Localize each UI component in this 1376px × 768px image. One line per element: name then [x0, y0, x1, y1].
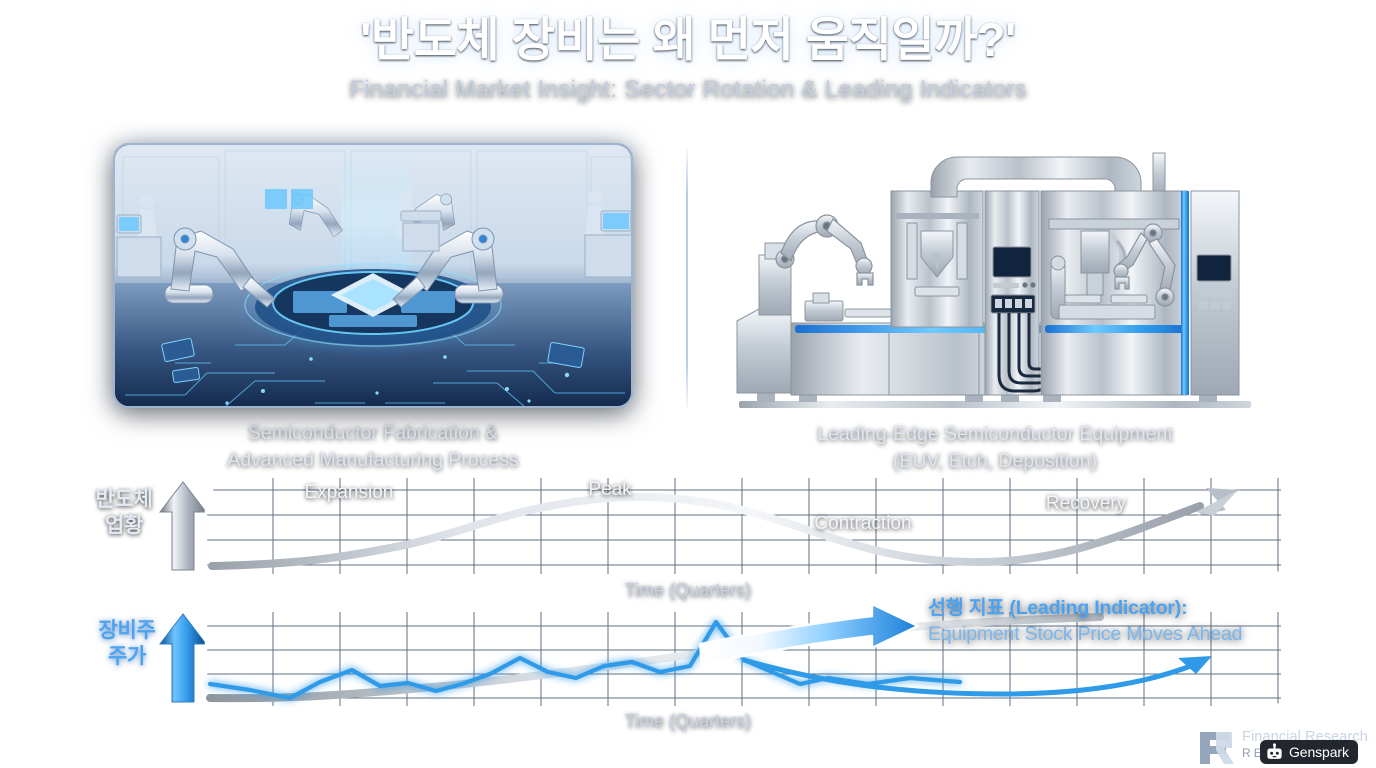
semiconductor-fab-photo	[113, 143, 633, 408]
caption-fab-line1: Semiconductor Fabrication &	[113, 420, 633, 447]
infographic-root: '반도체 장비는 왜 먼저 움직일까?' Financial Market In…	[0, 0, 1376, 768]
label-contraction: Contraction	[797, 513, 929, 535]
chart-bottom-recovery-curve	[744, 660, 1196, 694]
page-title: '반도체 장비는 왜 먼저 움직일까?'	[0, 14, 1376, 67]
vertical-divider	[686, 147, 688, 409]
leading-indicator-title: 선행 지표 (Leading Indicator):	[928, 596, 1348, 622]
equipment-illustration	[729, 143, 1261, 415]
page-subtitle: Financial Market Insight: Sector Rotatio…	[0, 76, 1376, 104]
caption-fab: Semiconductor Fabrication & Advanced Man…	[113, 420, 633, 474]
header: '반도체 장비는 왜 먼저 움직일까?' Financial Market In…	[0, 14, 1376, 104]
visuals-row: Semiconductor Fabrication & Advanced Man…	[0, 143, 1376, 463]
chart-top-canvas	[0, 470, 1376, 595]
panel-equipment: Leading-Edge Semiconductor Equipment (EU…	[729, 143, 1261, 475]
chart-top-up-arrow	[160, 482, 206, 570]
label-peak: Peak	[565, 479, 655, 501]
label-expansion: Expansion	[293, 482, 405, 504]
genspark-badge[interactable]: Genspark	[1260, 740, 1358, 764]
chart-semiconductor-cycle: 반도체 업황	[0, 470, 1376, 595]
robot-icon	[1265, 743, 1284, 762]
chart-bottom-xlabel: Time (Quarters)	[0, 711, 1376, 732]
fr-mark-icon	[1196, 728, 1238, 766]
caption-equipment: Leading-Edge Semiconductor Equipment (EU…	[729, 421, 1261, 475]
caption-equipment-line1: Leading-Edge Semiconductor Equipment	[729, 421, 1261, 448]
label-recovery: Recovery	[1026, 493, 1146, 515]
brand-logo: Financial Research REPORT Genspark	[1196, 727, 1376, 768]
chart-bottom-up-arrow	[160, 614, 206, 702]
leading-indicator-subtitle: Equipment Stock Price Moves Ahead	[928, 622, 1348, 648]
leading-indicator-annotation: 선행 지표 (Leading Indicator): Equipment Sto…	[928, 596, 1348, 647]
genspark-label: Genspark	[1289, 744, 1349, 760]
panel-fab: Semiconductor Fabrication & Advanced Man…	[113, 143, 633, 474]
